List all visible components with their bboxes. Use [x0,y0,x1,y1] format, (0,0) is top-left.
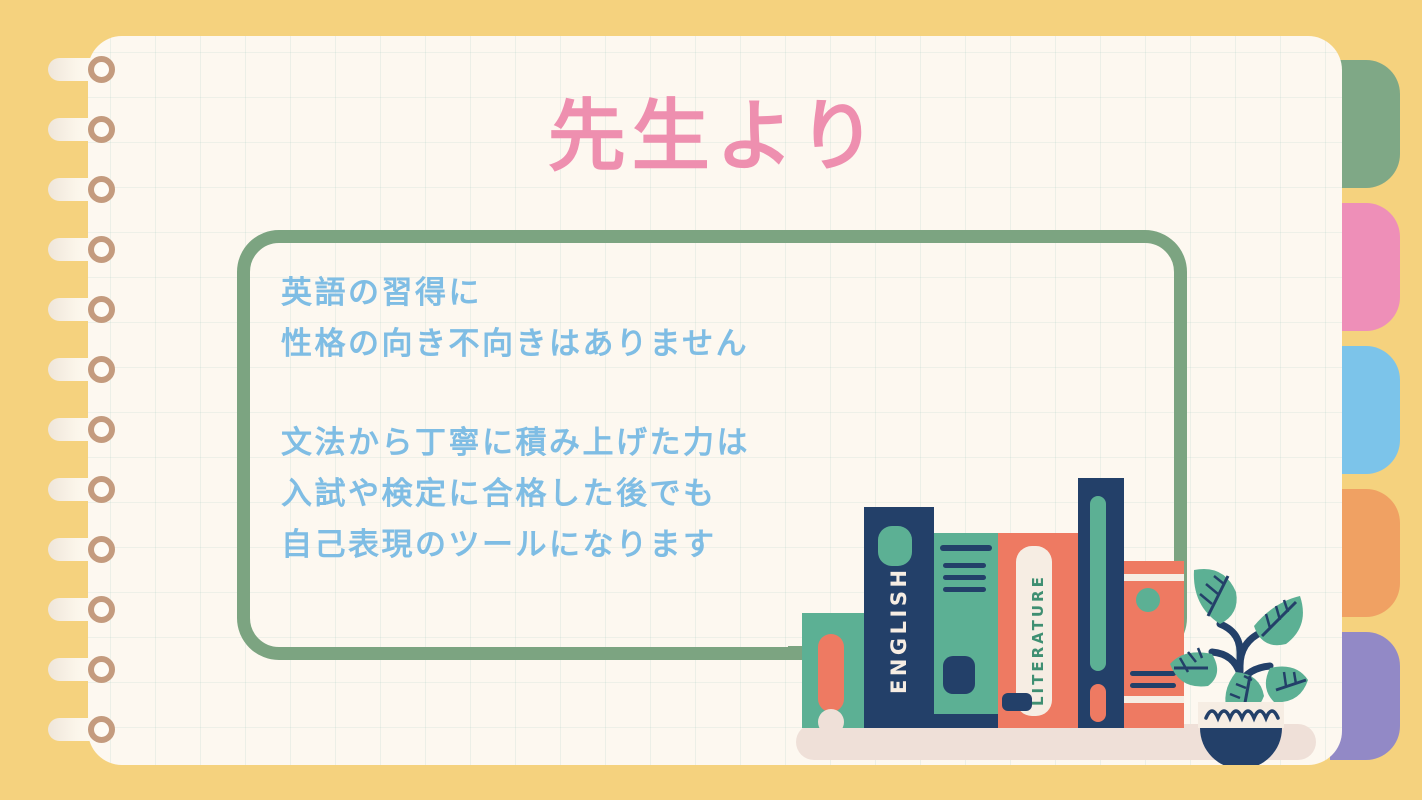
book-english-label: ENGLISH [887,566,911,694]
notebook-page: 先生より 英語の習得に 性格の向き不向きはありません 文法から丁寧に積み上げた力… [88,36,1342,765]
message-line-5: 自己表現のツールになります [281,520,1111,571]
message-line-3: 文法から丁寧に積み上げた力は [281,418,1111,469]
book-literature-label: LITERATURE [1029,574,1047,706]
book-green-plain [802,613,864,735]
index-tab-strip [1330,0,1422,800]
book-coral-leaning [1124,561,1184,728]
page-title: 先生より [88,98,1342,176]
slide-root: 先生より 英語の習得に 性格の向き不向きはありません 文法から丁寧に積み上げた力… [0,0,1422,800]
message-line-gap [281,370,1111,418]
message-line-2: 性格の向き不向きはありません [281,319,1111,370]
message-line-1: 英語の習得に [281,268,1111,319]
message-line-4: 入試や検定に合格した後でも [281,469,1111,520]
plant-leaf [1266,667,1308,703]
message-text: 英語の習得に 性格の向き不向きはありません 文法から丁寧に積み上げた力は 入試や… [281,268,1111,571]
plant-leaf [1254,596,1303,645]
plant-leaf [1194,569,1237,624]
